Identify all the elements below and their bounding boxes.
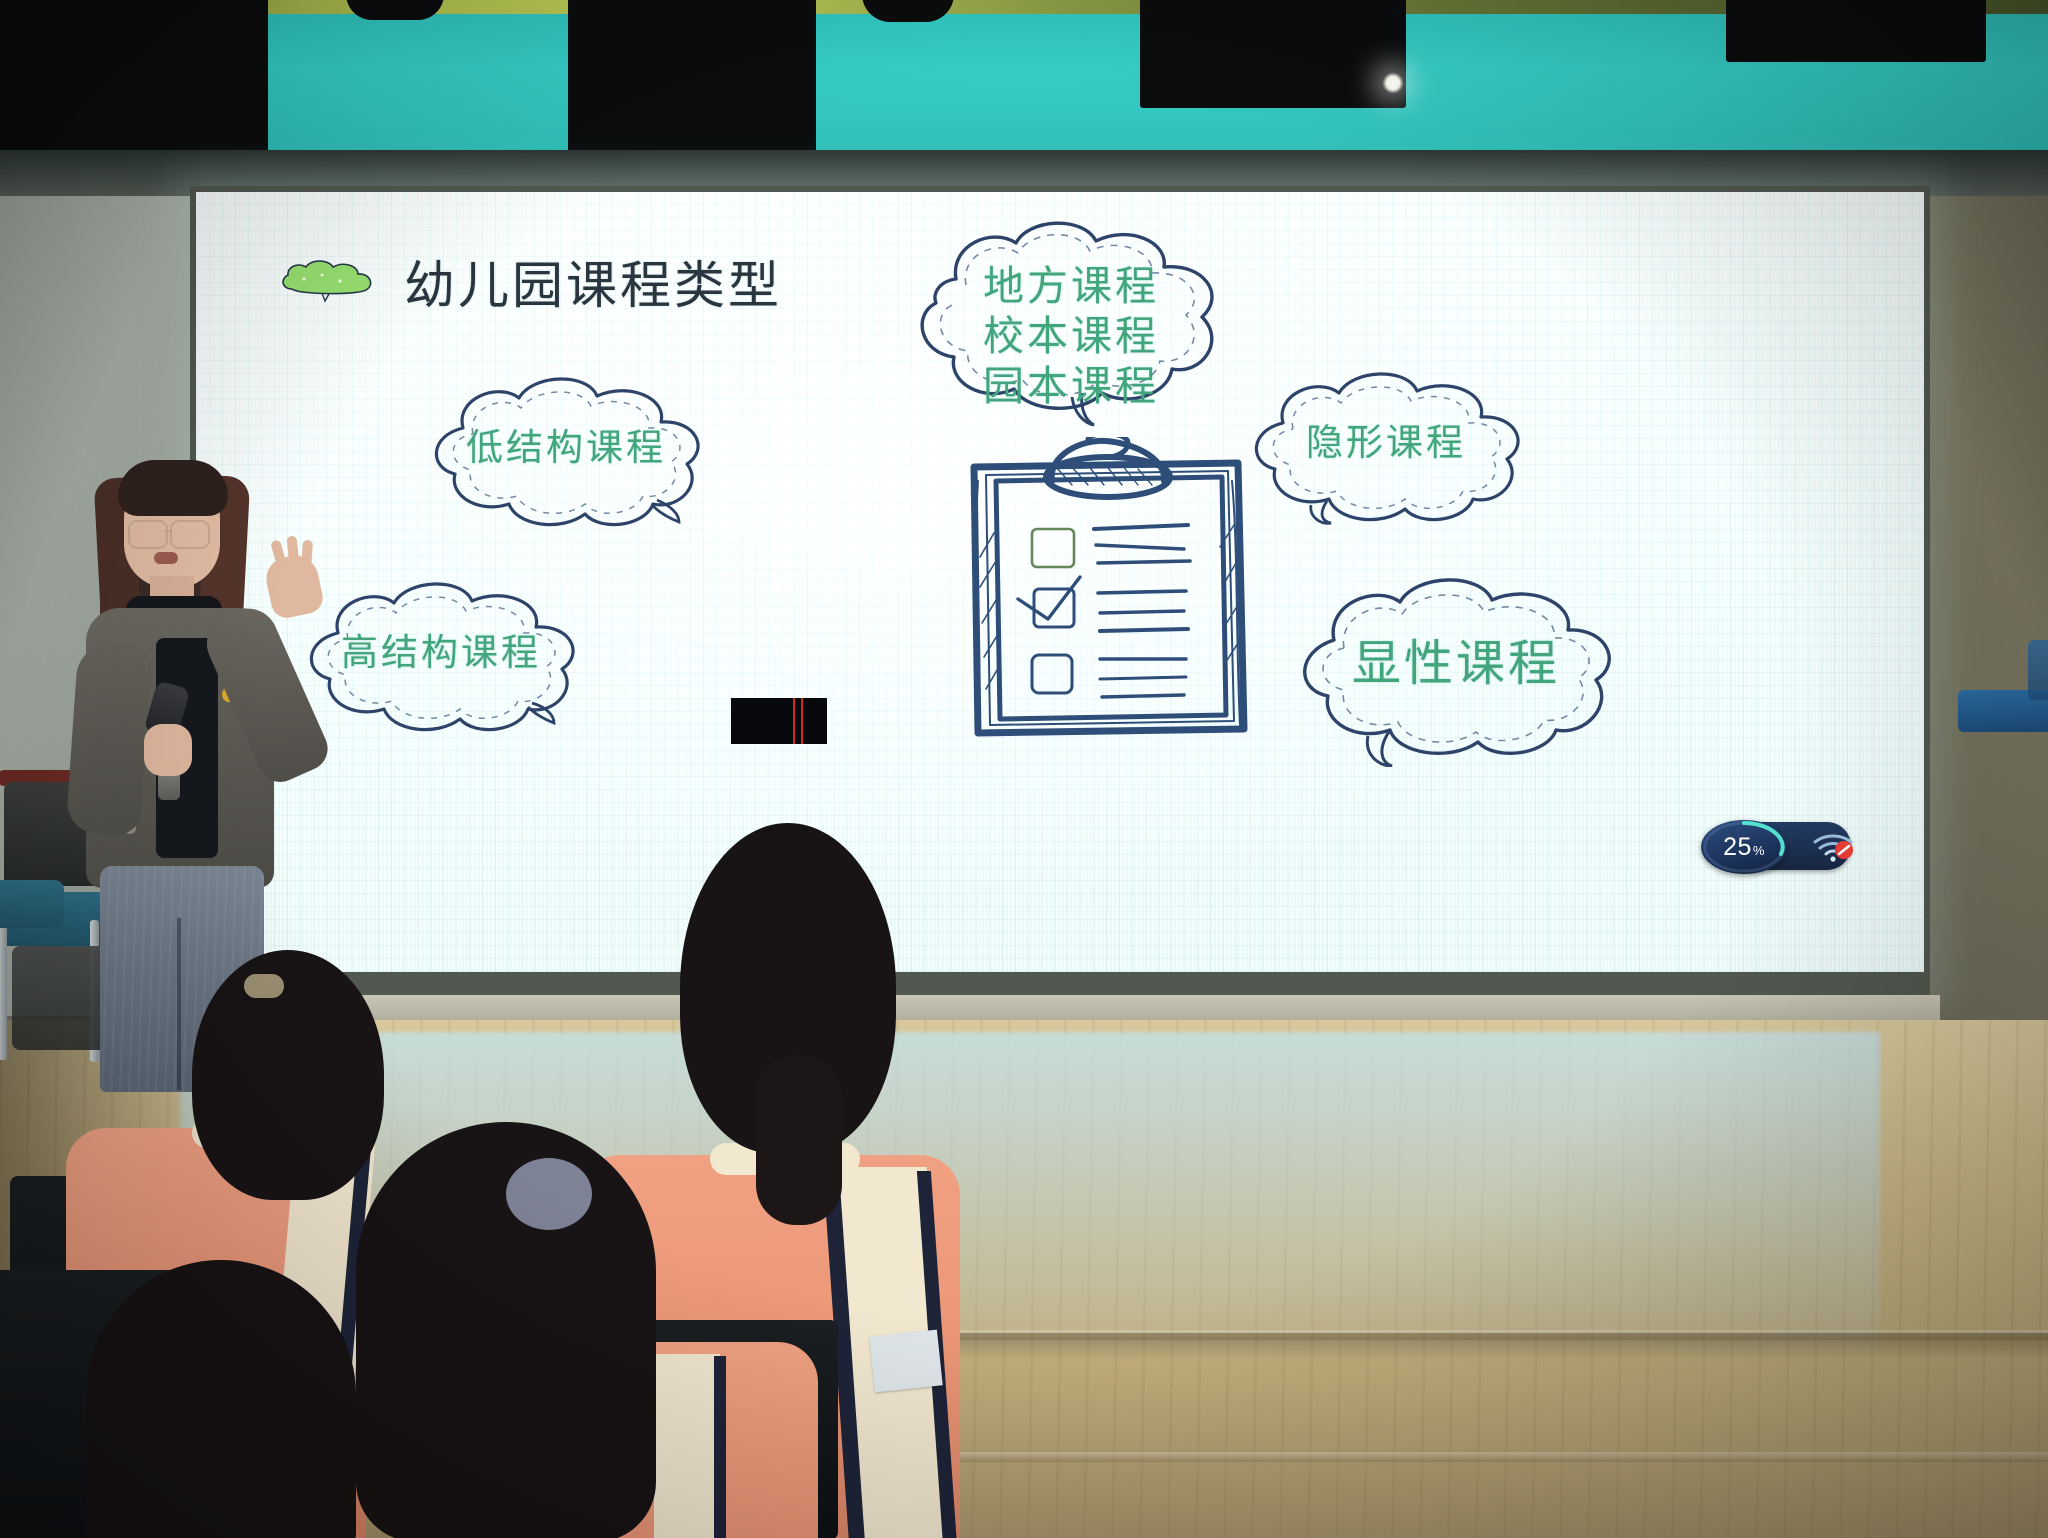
glasses-bridge bbox=[164, 530, 172, 532]
side-chair-right[interactable] bbox=[1958, 690, 2048, 820]
student-hair bbox=[192, 950, 384, 1200]
student-4 bbox=[0, 1230, 300, 1538]
presenter-finger bbox=[301, 540, 313, 571]
page-title: 幼儿园课程类型 bbox=[404, 244, 782, 318]
cloud-shape bbox=[896, 217, 1246, 427]
cloud-shape bbox=[1241, 367, 1531, 527]
screenshot-root: 幼儿园课程类型 地方课程 校本课程 园本课程 低结构课程 bbox=[0, 0, 2048, 1538]
presenter-finger bbox=[286, 536, 299, 567]
glasses-icon bbox=[128, 520, 168, 549]
cloud-explicit-curriculum: 显性课程 bbox=[1286, 572, 1626, 767]
student-hair bbox=[356, 1122, 656, 1538]
slide-title-row: 幼儿园课程类型 bbox=[278, 244, 782, 318]
cloud-shape bbox=[421, 372, 711, 532]
wifi-disabled-icon[interactable] bbox=[1811, 832, 1855, 862]
chair-back bbox=[2028, 640, 2048, 700]
wifi-icon bbox=[1811, 832, 1855, 862]
acoustic-panel bbox=[1726, 0, 1986, 62]
progress-ring: 25% bbox=[1701, 820, 1787, 874]
student-hair bbox=[86, 1260, 356, 1538]
glasses-icon bbox=[170, 520, 210, 549]
acoustic-panel bbox=[568, 0, 816, 166]
cloud-low-structure: 低结构课程 bbox=[421, 372, 711, 532]
hair-scrunchie bbox=[506, 1158, 592, 1230]
uniform-stripe bbox=[654, 1354, 720, 1538]
acoustic-panel bbox=[346, 0, 444, 20]
presenter-hand-holding-mic bbox=[144, 724, 192, 776]
side-chair-left-back[interactable] bbox=[0, 850, 70, 1070]
screen-dead-pixel-artifact bbox=[731, 698, 827, 744]
ceiling-downlight bbox=[1382, 72, 1404, 94]
cloud-hidden-curriculum: 隐形课程 bbox=[1241, 367, 1531, 527]
wall-right-panel bbox=[1920, 196, 2048, 1036]
green-cloud-icon bbox=[278, 259, 378, 303]
clipboard-checklist-sketch bbox=[956, 437, 1256, 747]
status-badge[interactable]: 25% bbox=[1701, 820, 1855, 874]
clipboard-icon bbox=[956, 437, 1256, 747]
presenter-mouth bbox=[154, 552, 178, 564]
presenter-arm-left bbox=[65, 642, 152, 837]
cloud-center: 地方课程 校本课程 园本课程 bbox=[896, 217, 1246, 427]
chair-seat bbox=[0, 880, 64, 928]
handout-paper bbox=[869, 1330, 942, 1393]
cloud-shape bbox=[1286, 572, 1626, 767]
student-3 bbox=[398, 1130, 818, 1538]
acoustic-panel bbox=[1140, 0, 1406, 108]
battery-percent-value: 25% bbox=[1723, 833, 1765, 862]
presenter-fringe bbox=[118, 460, 228, 516]
acoustic-panel bbox=[0, 0, 268, 172]
presentation-slide[interactable]: 幼儿园课程类型 地方课程 校本课程 园本课程 低结构课程 bbox=[196, 192, 1924, 972]
student-ponytail bbox=[244, 974, 284, 998]
uniform-stripe bbox=[714, 1356, 726, 1538]
